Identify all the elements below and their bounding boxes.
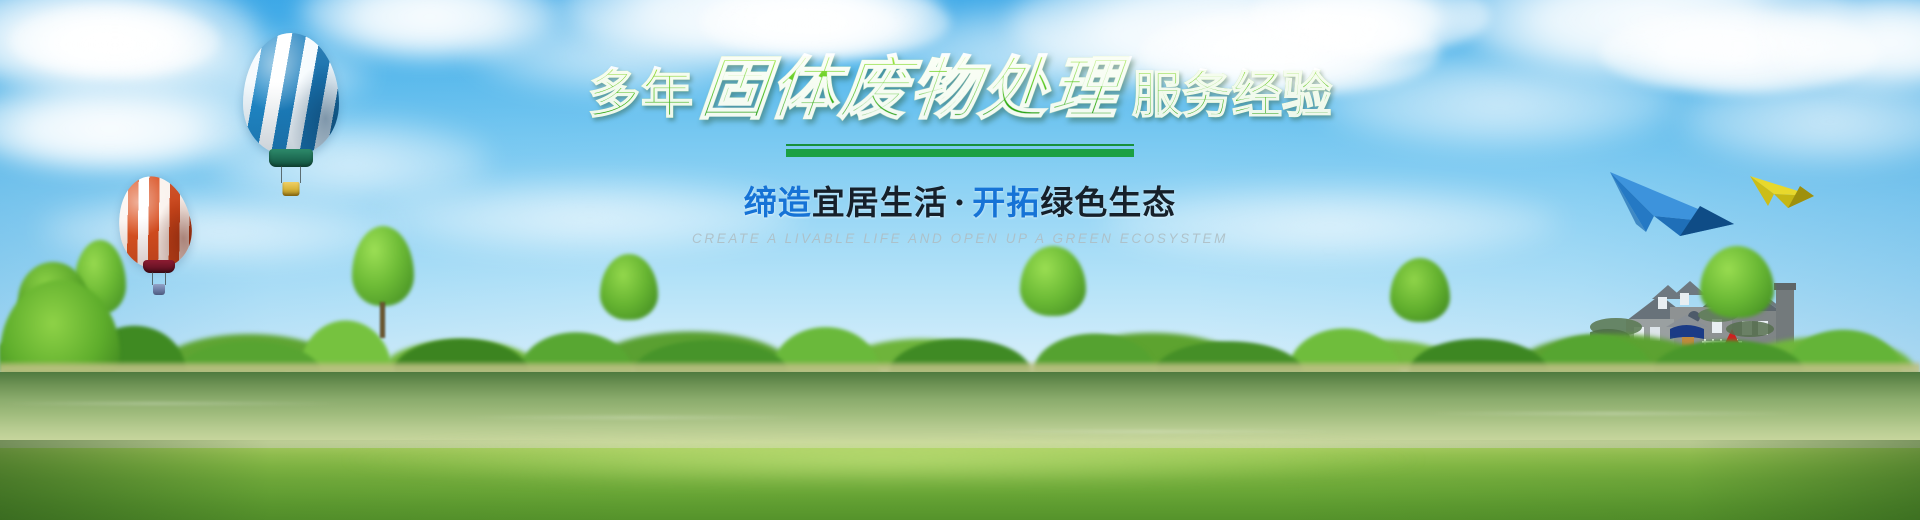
landscape [0, 220, 1920, 520]
subtitle-part-1: 缔造 [744, 183, 812, 222]
treeline-main [0, 247, 1920, 372]
headline-suffix: 服务经验 [1132, 70, 1332, 120]
headline-prefix: 多年 [588, 69, 694, 121]
banner-subtitle: 缔造宜居生活·开拓绿色生态 [0, 176, 1920, 224]
subtitle-separator: · [948, 183, 973, 222]
banner-text-block: 多年固体废物处理服务经验 缔造宜居生活·开拓绿色生态 CREATE A LIVA… [0, 56, 1920, 246]
headline-emphasis: 固体废物处理 [690, 56, 1129, 124]
banner-english-tagline: CREATE A LIVABLE LIFE AND OPEN UP A GREE… [0, 231, 1920, 246]
subtitle-part-4: 绿色生态 [1040, 183, 1176, 222]
lawn-vignette [0, 440, 1920, 520]
banner-headline: 多年固体废物处理服务经验 [0, 56, 1920, 124]
divider-thin-line [786, 144, 1134, 146]
hero-banner: 多年固体废物处理服务经验 缔造宜居生活·开拓绿色生态 CREATE A LIVA… [0, 0, 1920, 520]
subtitle-part-2: 宜居生活 [812, 183, 948, 222]
subtitle-part-3: 开拓 [972, 183, 1040, 222]
green-divider [786, 144, 1134, 157]
divider-thick-line [786, 149, 1134, 157]
